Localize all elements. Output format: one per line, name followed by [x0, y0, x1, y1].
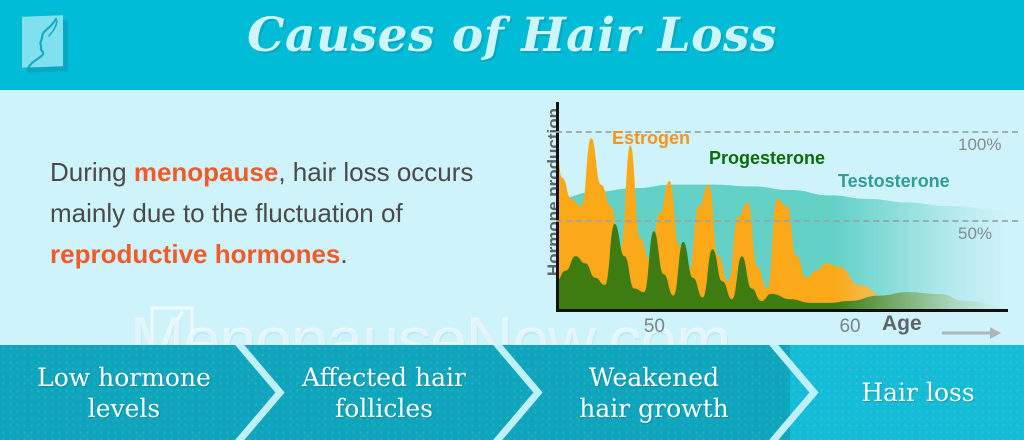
page-title: Causes of Hair Loss [0, 8, 1024, 63]
flow-step-2[interactable]: Affected hair follicles [272, 345, 496, 440]
flow-step-3[interactable]: Weakened hair growth [540, 345, 768, 440]
chevron-divider-2-icon [490, 345, 544, 440]
flow-step-3-line1: Weakened [579, 362, 728, 393]
lead-bold-hormones: reproductive hormones [50, 239, 340, 269]
flow-step-3-line2: hair growth [579, 393, 728, 424]
chart-legend-progesterone: Progesterone [709, 148, 825, 169]
chevron-divider-3-icon [766, 345, 820, 440]
header-bar: Causes of Hair Loss [0, 0, 1024, 90]
chart-x-axis-label: Age [882, 312, 922, 336]
chart-y-axis-line [556, 102, 559, 312]
flow-step-4-line1: Hair loss [861, 377, 974, 408]
watermark-logo-icon [148, 304, 200, 345]
hormone-chart: Hormone production [516, 90, 1016, 340]
flow-step-1[interactable]: Low hormone levels [8, 345, 240, 440]
flow-step-2-line1: Affected hair [302, 362, 466, 393]
chart-legend-estrogen: Estrogen [612, 128, 690, 149]
chart-axis-arrow-icon [940, 325, 1002, 341]
lead-part-3: . [340, 239, 347, 269]
process-flow: Low hormone levels Affected hair follicl… [0, 345, 1024, 440]
lead-paragraph: During menopause, hair loss occurs mainl… [50, 152, 510, 275]
chart-xtick-60: 60 [839, 316, 860, 338]
infographic-root: Causes of Hair Loss MenopauseNow.com Dur… [0, 0, 1024, 440]
flow-step-2-line2: follicles [302, 393, 466, 424]
lead-bold-menopause: menopause [134, 157, 279, 187]
chart-legend-testosterone: Testosterone [838, 171, 950, 192]
body-section: MenopauseNow.com During menopause, hair … [0, 90, 1024, 345]
chart-xtick-50: 50 [644, 316, 665, 338]
chart-gridline-label-50: 50% [958, 224, 992, 244]
chart-gridline-label-100: 100% [958, 135, 1001, 155]
flow-step-1-line1: Low hormone [37, 362, 211, 393]
chart-gridline-50 [556, 220, 1018, 222]
flow-step-4[interactable]: Hair loss [818, 345, 1018, 440]
chart-x-axis-line [556, 309, 1008, 312]
flow-step-1-line2: levels [37, 393, 211, 424]
lead-part-1: During [50, 157, 134, 187]
